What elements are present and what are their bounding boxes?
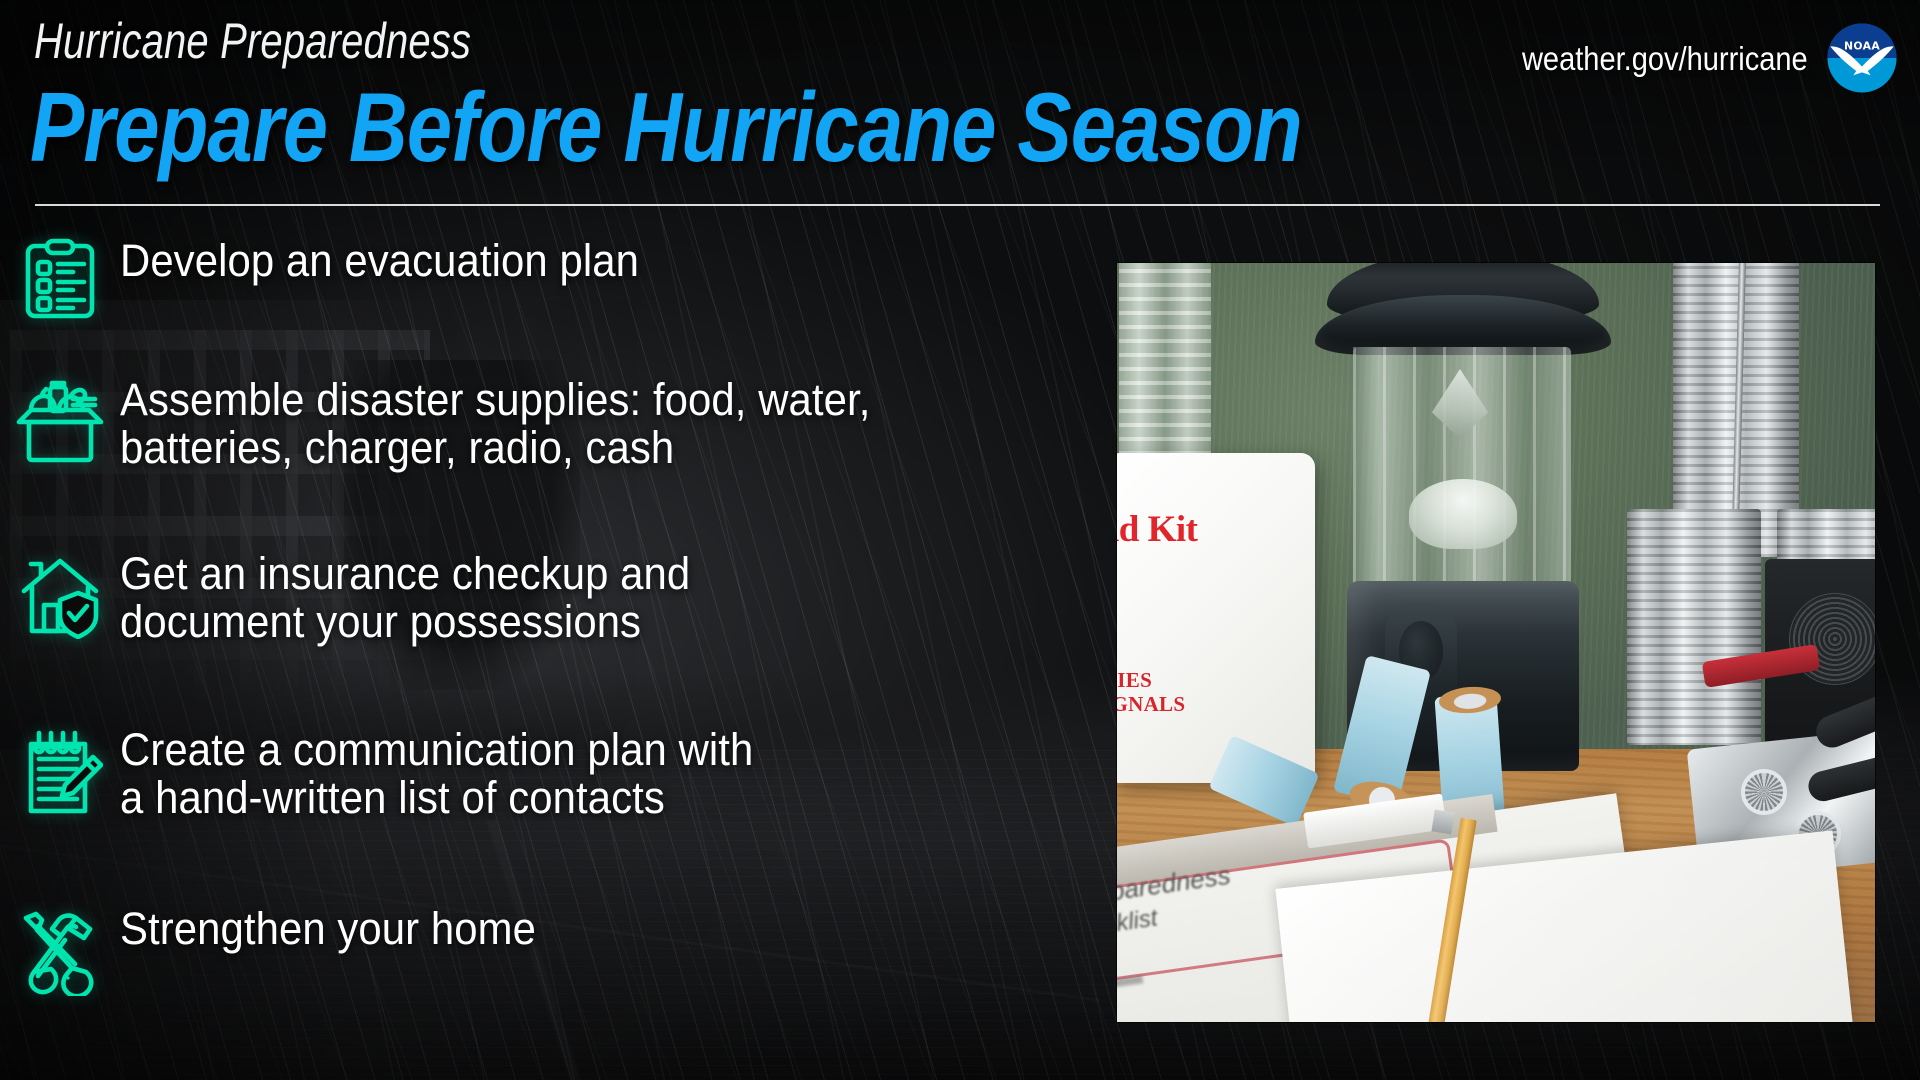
tip-label: Strengthen your home <box>120 904 536 953</box>
header-divider <box>35 204 1880 206</box>
photo-pencil-ferrule <box>1431 810 1454 835</box>
tip-item-strengthen-home: Strengthen your home <box>0 904 567 996</box>
website-url: weather.gov/hurricane <box>1522 42 1808 75</box>
page-title: Prepare Before Hurricane Season <box>30 78 1302 176</box>
hurricane-preparedness-poster: Hurricane Preparedness Prepare Before Hu… <box>0 0 1920 1080</box>
noaa-logo-icon: NOAA <box>1826 22 1898 94</box>
tip-item-insurance-checkup: Get an insurance checkup and document yo… <box>0 549 733 645</box>
tip-label: Assemble disaster supplies: food, water,… <box>120 375 870 471</box>
tip-label: Create a communication plan with a hand-… <box>120 725 753 821</box>
tip-label: Develop an evacuation plan <box>120 236 639 285</box>
house-shield-icon <box>0 549 120 639</box>
photo-first-aid-kit: ­id Kit LIES IGNALS <box>1117 453 1315 783</box>
tip-item-communication-plan: Create a communication plan with a hand-… <box>0 725 801 821</box>
photo-canned-food-left <box>1627 509 1761 745</box>
tip-item-disaster-supplies: Assemble disaster supplies: food, water,… <box>0 375 927 471</box>
tip-label: Get an insurance checkup and document yo… <box>120 549 690 645</box>
noaa-logo-text: NOAA <box>1844 39 1880 52</box>
hammer-screwdriver-icon <box>0 904 120 996</box>
first-aid-kit-sublabel: LIES IGNALS <box>1117 668 1185 716</box>
notepad-pencil-icon <box>0 725 120 817</box>
photo-can-opener-gear-one <box>1741 769 1787 815</box>
kicker-text: Hurricane Preparedness <box>34 16 471 66</box>
emergency-supplies-photo: ­id Kit LIES IGNALS <box>1117 263 1875 1022</box>
supply-box-icon <box>0 375 120 465</box>
tip-item-evacuation-plan: Develop an evacuation plan <box>0 236 678 324</box>
first-aid-kit-label: ­id Kit <box>1117 508 1198 551</box>
clipboard-checklist-icon <box>0 236 120 324</box>
